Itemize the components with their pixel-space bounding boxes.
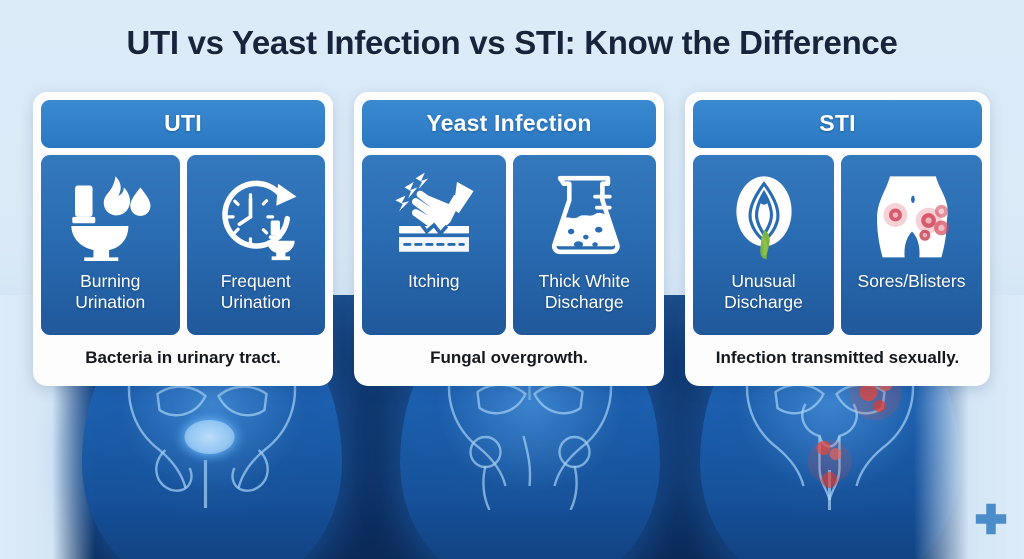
tile-label: Burning Urination bbox=[47, 271, 174, 312]
card-sti: STI bbox=[685, 92, 990, 386]
tile-unusual-discharge[interactable]: Unusual Discharge bbox=[693, 155, 834, 335]
medical-plus-icon bbox=[972, 500, 1010, 538]
tile-label: Frequent Urination bbox=[193, 271, 320, 312]
card-yeast-infection: Yeast Infection bbox=[354, 92, 664, 386]
tile-thick-white-discharge[interactable]: Thick White Discharge bbox=[513, 155, 657, 335]
infographic-canvas: UTI vs Yeast Infection vs STI: Know the … bbox=[0, 0, 1024, 559]
card-caption-sti: Infection transmitted sexually. bbox=[693, 335, 982, 378]
beaker-icon bbox=[538, 169, 630, 261]
vulva-discharge-icon bbox=[718, 169, 810, 261]
card-header-yeast-infection: Yeast Infection bbox=[362, 100, 656, 148]
toilet-flame-droplet-icon bbox=[64, 169, 156, 261]
hips-sores-icon bbox=[866, 169, 958, 261]
tile-label: Sores/Blisters bbox=[858, 271, 966, 292]
tiles-sti: Unusual Discharge bbox=[693, 155, 982, 335]
tile-label: Thick White Discharge bbox=[519, 271, 651, 312]
tile-itching[interactable]: Itching bbox=[362, 155, 506, 335]
tiles-yeast-infection: Itching bbox=[362, 155, 656, 335]
tiles-uti: Burning Urination bbox=[41, 155, 325, 335]
tile-sores-blisters[interactable]: Sores/Blisters bbox=[841, 155, 982, 335]
card-caption-uti: Bacteria in urinary tract. bbox=[41, 335, 325, 378]
tile-label: Itching bbox=[408, 271, 460, 292]
page-title: UTI vs Yeast Infection vs STI: Know the … bbox=[0, 24, 1024, 62]
comparison-cards: UTI Burnin bbox=[33, 92, 991, 386]
hand-scratching-skin-icon bbox=[388, 169, 480, 261]
tile-label: Unusual Discharge bbox=[699, 271, 828, 312]
card-header-uti: UTI bbox=[41, 100, 325, 148]
tile-frequent-urination[interactable]: Frequent Urination bbox=[187, 155, 326, 335]
card-header-sti: STI bbox=[693, 100, 982, 148]
clock-toilet-icon bbox=[210, 169, 302, 261]
card-uti: UTI Burnin bbox=[33, 92, 333, 386]
card-caption-yeast-infection: Fungal overgrowth. bbox=[362, 335, 656, 378]
tile-burning-urination[interactable]: Burning Urination bbox=[41, 155, 180, 335]
